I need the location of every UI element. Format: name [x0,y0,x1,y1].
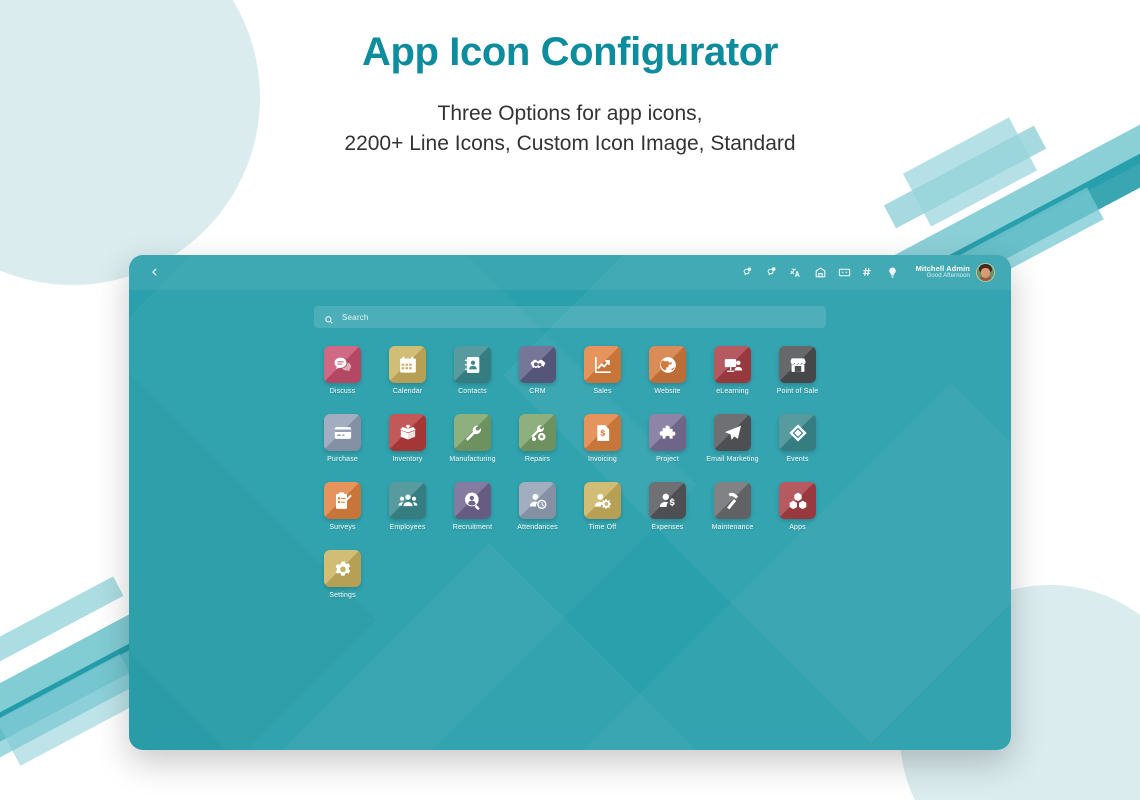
app-label: Employees [390,524,426,531]
app-events[interactable]: Events [765,414,830,463]
app-label: Project [656,456,679,463]
wrench-gear-icon[interactable] [519,414,556,451]
app-label: Inventory [392,456,422,463]
display-icon[interactable] [838,266,851,279]
search-icon [324,312,334,322]
wrench-icon[interactable] [454,414,491,451]
app-label: eLearning [716,388,749,395]
app-grid: DiscussCalendarContactsCRMSalesWebsiteeL… [310,346,830,599]
invoice-doc-icon[interactable] [584,414,621,451]
app-apps[interactable]: Apps [765,482,830,531]
app-purchase[interactable]: Purchase [310,414,375,463]
paper-plane-icon[interactable] [714,414,751,451]
app-label: Calendar [393,388,423,395]
person-dollar-icon[interactable] [649,482,686,519]
handshake-icon[interactable] [519,346,556,383]
calendar-icon[interactable] [389,346,426,383]
chat-bubble-icon[interactable] [324,346,361,383]
app-surveys[interactable]: Surveys [310,482,375,531]
app-calendar[interactable]: Calendar [375,346,440,395]
shop-icon[interactable] [814,266,827,279]
app-attendances[interactable]: Attendances [505,482,570,531]
app-label: Repairs [525,456,550,463]
app-recruitment[interactable]: Recruitment [440,482,505,531]
avatar[interactable] [976,263,995,282]
app-label: Recruitment [453,524,492,531]
clipboard-pencil-icon[interactable] [324,482,361,519]
user-menu[interactable]: Mitchell Admin Good Afternoon [916,263,995,282]
app-label: Manufacturing [449,456,495,463]
people-icon[interactable] [389,482,426,519]
app-repairs[interactable]: Repairs [505,414,570,463]
globe-icon[interactable] [649,346,686,383]
app-label: Settings [329,592,356,599]
magnifier-person-icon[interactable] [454,482,491,519]
gear-icon[interactable] [324,550,361,587]
app-time-off[interactable]: Time Off [570,482,635,531]
page-subtitle: Three Options for app icons, 2200+ Line … [0,99,1140,159]
app-website[interactable]: Website [635,346,700,395]
app-project[interactable]: Project [635,414,700,463]
translate-icon[interactable] [790,266,803,279]
back-icon[interactable]: ‹ [151,264,158,281]
app-invoicing[interactable]: Invoicing [570,414,635,463]
messages-icon[interactable] [742,266,755,279]
app-label: Time Off [589,524,617,531]
app-sales[interactable]: Sales [570,346,635,395]
page-subtitle-line-1: Three Options for app icons, [438,102,703,125]
puzzle-icon[interactable] [649,414,686,451]
app-label: Attendances [517,524,558,531]
app-window: ‹ Mitc [129,255,1011,750]
search-input[interactable]: Search [314,306,826,328]
ticket-icon[interactable] [779,414,816,451]
app-label: Website [654,388,680,395]
hammer-icon[interactable] [714,482,751,519]
app-label: Discuss [330,388,356,395]
app-label: Point of Sale [777,388,819,395]
storefront-icon[interactable] [779,346,816,383]
app-label: Invoicing [588,456,617,463]
user-text: Mitchell Admin Good Afternoon [916,265,970,279]
app-label: Events [786,456,808,463]
app-email-marketing[interactable]: Email Marketing [700,414,765,463]
credit-card-icon[interactable] [324,414,361,451]
app-discuss[interactable]: Discuss [310,346,375,395]
person-gear-icon[interactable] [584,482,621,519]
app-label: Apps [789,524,806,531]
window-topbar: ‹ Mitc [129,255,1011,290]
app-label: Expenses [652,524,684,531]
app-crm[interactable]: CRM [505,346,570,395]
hashtag-icon[interactable] [862,266,875,279]
page-header: App Icon Configurator Three Options for … [0,0,1140,159]
presentation-icon[interactable] [714,346,751,383]
search-placeholder: Search [342,313,369,322]
app-label: Contacts [458,388,487,395]
chart-up-icon[interactable] [584,346,621,383]
page-title: App Icon Configurator [0,30,1140,75]
cubes-icon[interactable] [779,482,816,519]
app-expenses[interactable]: Expenses [635,482,700,531]
person-clock-icon[interactable] [519,482,556,519]
app-point-of-sale[interactable]: Point of Sale [765,346,830,395]
window-body: Search DiscussCalendarContactsCRMSalesWe… [129,290,1011,599]
app-label: Email Marketing [706,456,758,463]
systray: Mitchell Admin Good Afternoon [742,263,995,282]
app-label: CRM [529,388,545,395]
app-label: Purchase [327,456,358,463]
app-manufacturing[interactable]: Manufacturing [440,414,505,463]
app-label: Maintenance [712,524,754,531]
app-settings[interactable]: Settings [310,550,375,599]
app-label: Sales [593,388,611,395]
app-maintenance[interactable]: Maintenance [700,482,765,531]
user-greeting: Good Afternoon [927,273,970,279]
app-elearning[interactable]: eLearning [700,346,765,395]
app-inventory[interactable]: Inventory [375,414,440,463]
page-subtitle-line-2: 2200+ Line Icons, Custom Icon Image, Sta… [344,132,795,155]
app-label: Surveys [329,524,355,531]
contact-card-icon[interactable] [454,346,491,383]
lightbulb-icon[interactable] [886,266,899,279]
app-contacts[interactable]: Contacts [440,346,505,395]
activities-icon[interactable] [766,266,779,279]
app-employees[interactable]: Employees [375,482,440,531]
user-name: Mitchell Admin [916,265,970,273]
open-box-icon[interactable] [389,414,426,451]
